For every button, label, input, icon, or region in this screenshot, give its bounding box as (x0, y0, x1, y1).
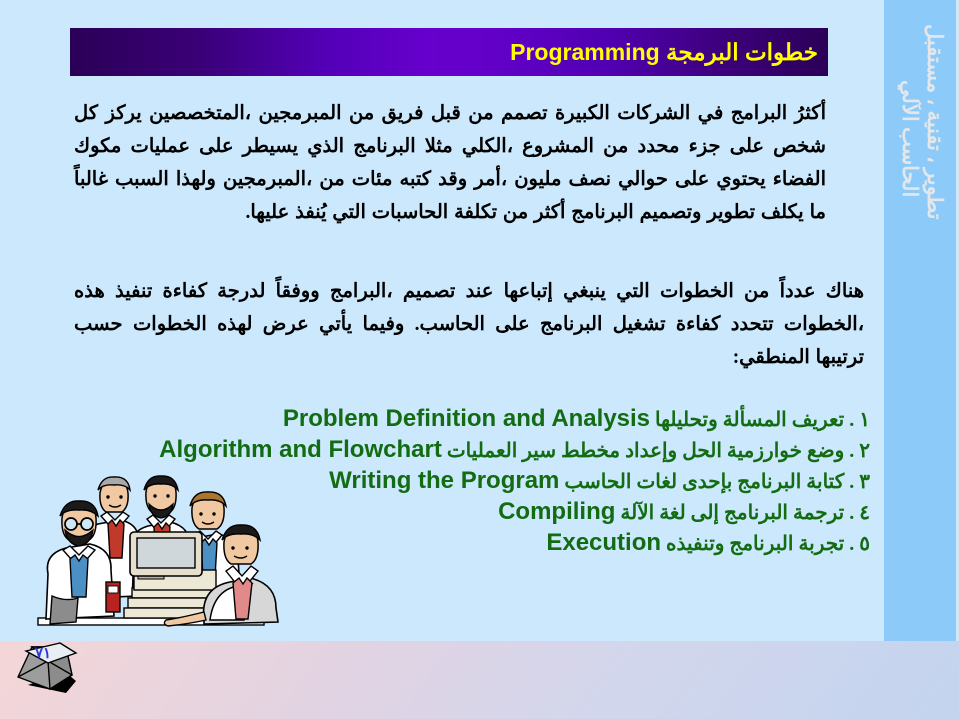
body-paragraph-1: أكثرُ البرامج في الشركات الكبيرة تصمم من… (74, 97, 826, 229)
programming-step-item: ٢ . وضع خوارزمية الحل وإعداد مخطط سير ال… (70, 434, 870, 465)
step-number: ٥ . (849, 533, 870, 555)
businessmen-computer-clipart (34, 470, 282, 633)
side-band-line-2: الحاسب الآلي (897, 80, 922, 197)
step-label-english: Writing the Program (329, 467, 559, 494)
step-number: ٤ . (849, 502, 870, 524)
side-decoration-band: تطوير ، تقنية ، مستقبل الحاسب الآلي (884, 0, 956, 641)
programming-step-item: ١ . تعريف المسألة وتحليلها Problem Defin… (70, 403, 870, 434)
step-number: ٣ . (849, 471, 870, 493)
body-paragraph-2: هناك عدداً من الخطوات التي ينبغي إتباعها… (74, 275, 864, 374)
step-label-arabic: تجربة البرنامج وتنفيذه (661, 533, 849, 555)
side-band-text-group: تطوير ، تقنية ، مستقبل الحاسب الآلي (884, 10, 956, 310)
page-number-label: ٧١ (23, 644, 63, 663)
page-title: خطوات البرمجة Programming (510, 39, 818, 66)
slide-title-bar: خطوات البرمجة Programming (70, 28, 828, 76)
step-label-english: Algorithm and Flowchart (159, 436, 442, 463)
step-number: ١ . (849, 409, 870, 431)
step-label-english: Compiling (498, 498, 615, 525)
side-band-line-1: تطوير ، تقنية ، مستقبل (922, 24, 947, 220)
step-label-english: Problem Definition and Analysis (283, 405, 650, 432)
step-number: ٢ . (849, 440, 870, 462)
step-label-arabic: تعريف المسألة وتحليلها (650, 409, 849, 431)
slide-root: تطوير ، تقنية ، مستقبل الحاسب الآلي خطوا… (0, 0, 959, 719)
step-label-english: Execution (546, 529, 661, 556)
step-label-arabic: كتابة البرنامج بإحدى لغات الحاسب (559, 471, 849, 493)
step-label-arabic: وضع خوارزمية الحل وإعداد مخطط سير العملي… (442, 440, 849, 462)
step-label-arabic: ترجمة البرنامج إلى لغة الآلة (615, 502, 849, 524)
